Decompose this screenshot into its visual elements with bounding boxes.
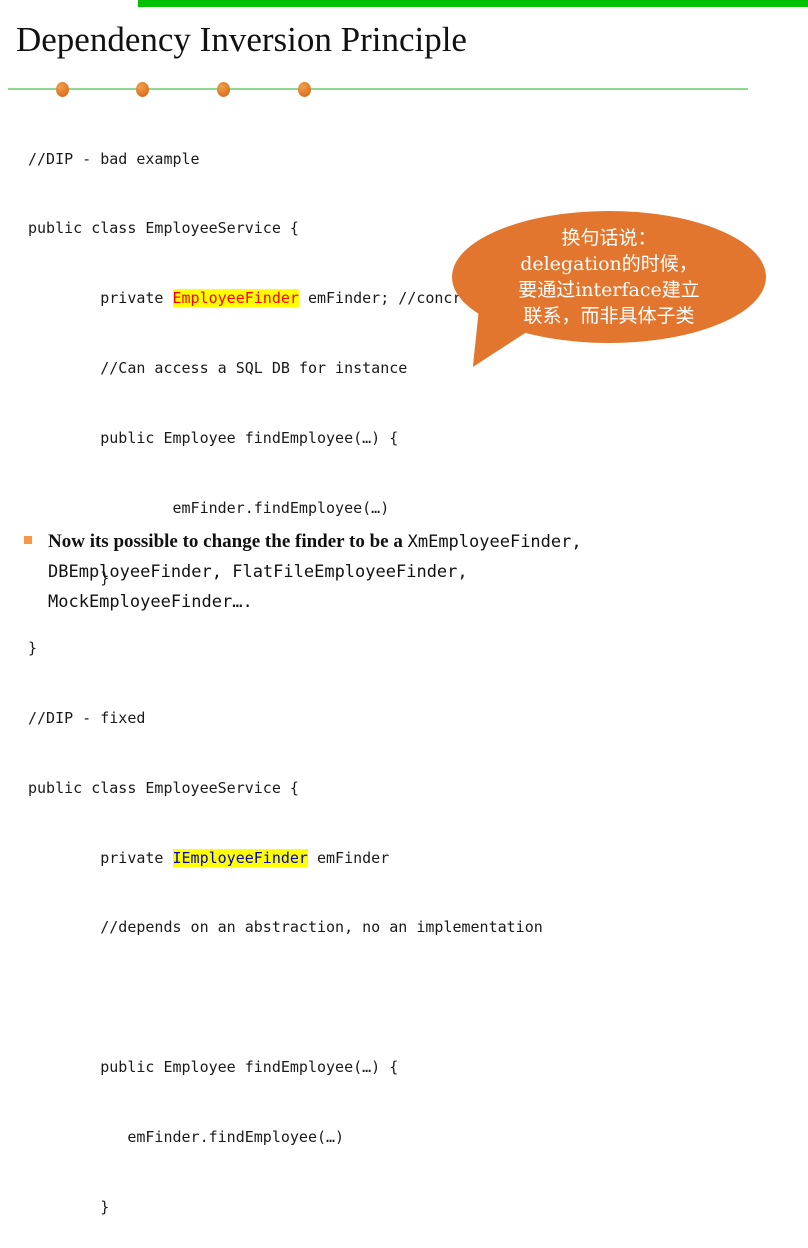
code-line: //DIP - bad example bbox=[28, 148, 808, 171]
code-line: emFinder.findEmployee(…) bbox=[28, 1126, 808, 1149]
divider-dot-4 bbox=[298, 82, 311, 97]
speech-bubble-callout: 换句话说： delegation的时候， 要通过interface建立 联系，而… bbox=[452, 211, 766, 343]
divider-line bbox=[8, 88, 748, 90]
bullet-marker-icon bbox=[24, 536, 32, 544]
code-line: emFinder.findEmployee(…) bbox=[28, 497, 808, 520]
callout-line-3: 要通过interface建立 bbox=[452, 277, 766, 303]
callout-line-2: delegation的时候， bbox=[452, 251, 766, 277]
code-text: emFinder bbox=[308, 849, 389, 867]
divider-dot-2 bbox=[136, 82, 149, 97]
divider-dot-3 bbox=[217, 82, 230, 97]
code-line-highlight-interface: private IEmployeeFinder emFinder bbox=[28, 847, 808, 870]
callout-line-4: 联系，而非具体子类 bbox=[452, 303, 766, 329]
code-line: public class EmployeeService { bbox=[28, 777, 808, 800]
speech-bubble-text: 换句话说： delegation的时候， 要通过interface建立 联系，而… bbox=[452, 225, 766, 329]
bullet-mono-text-1: XmEmployeeFinder, bbox=[408, 532, 582, 552]
code-line: } bbox=[28, 637, 808, 660]
page-title: Dependency Inversion Principle bbox=[16, 19, 467, 61]
bullet-text: Now its possible to change the finder to… bbox=[48, 527, 794, 617]
title-divider bbox=[8, 80, 748, 100]
top-accent-bar bbox=[138, 0, 808, 7]
code-line: public Employee findEmployee(…) { bbox=[28, 1056, 808, 1079]
divider-dot-1 bbox=[56, 82, 69, 97]
callout-line-1: 换句话说： bbox=[452, 225, 766, 251]
code-text: private bbox=[28, 289, 173, 307]
code-text: private bbox=[28, 849, 173, 867]
bullet-bold-text: Now its possible to change the finder to… bbox=[48, 531, 408, 552]
code-line: //Can access a SQL DB for instance bbox=[28, 357, 808, 380]
bullet-mono-text-3: MockEmployeeFinder…. bbox=[48, 592, 253, 612]
code-line: //depends on an abstraction, no an imple… bbox=[28, 916, 808, 939]
bullet-block: Now its possible to change the finder to… bbox=[24, 527, 794, 617]
code-line: //DIP - fixed bbox=[28, 707, 808, 730]
code-line: public Employee findEmployee(…) { bbox=[28, 427, 808, 450]
code-line-blank bbox=[28, 986, 808, 1009]
highlighted-token-employeefinder: EmployeeFinder bbox=[173, 289, 299, 307]
highlighted-token-iemployeefinder: IEmployeeFinder bbox=[173, 849, 308, 867]
bullet-mono-text-2: DBEmployeeFinder, FlatFileEmployeeFinder… bbox=[48, 562, 468, 582]
code-line: } bbox=[28, 1196, 808, 1219]
